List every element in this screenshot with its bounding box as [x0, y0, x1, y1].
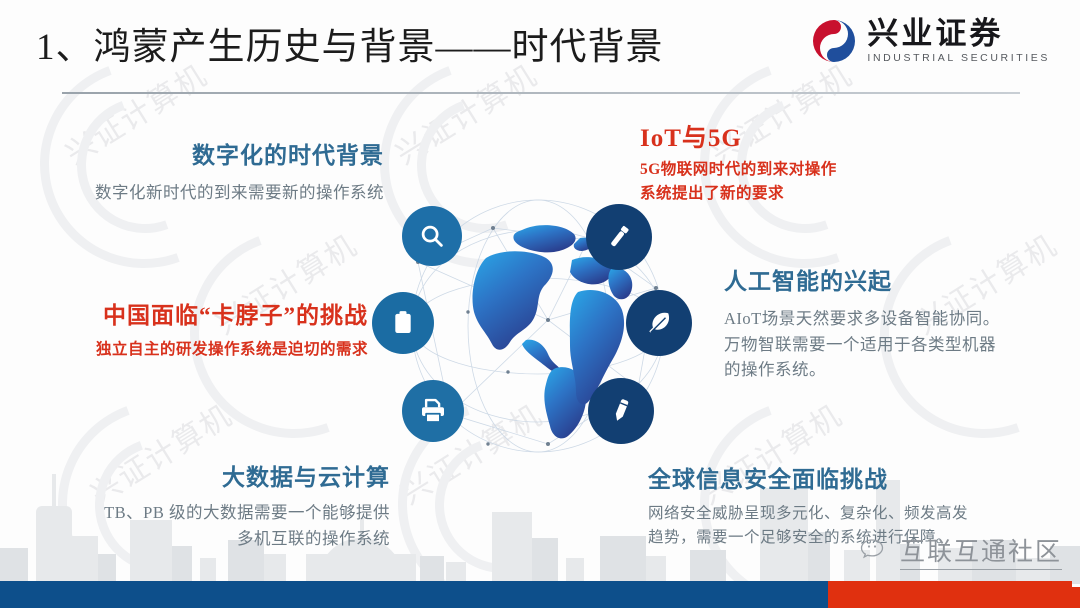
flashlight-icon[interactable] [586, 204, 652, 270]
block-line: 的操作系统。 [724, 357, 1074, 383]
block-ai-rise: 人工智能的兴起 AIoT场景天然要求多设备智能协同。 万物智联需要一个适用于各类… [724, 262, 1074, 383]
block-heading: IoT与5G [640, 118, 970, 154]
block-line: 万物智联需要一个适用于各类型机器 [724, 332, 1074, 358]
brand-logo: 兴业证券 INDUSTRIAL SECURITIES [811, 18, 1050, 64]
globe-graphic [398, 192, 678, 462]
block-heading: 全球信息安全面临挑战 [648, 460, 1068, 494]
block-heading: 数字化的时代背景 [0, 136, 384, 170]
block-line: 数字化新时代的到来需要新的操作系统 [0, 180, 384, 206]
wechat-watermark: 互联互通社区 [859, 532, 1062, 570]
swirl-logo-icon [811, 18, 857, 64]
block-digital-era: 数字化的时代背景 数字化新时代的到来需要新的操作系统 [0, 136, 384, 206]
pencil-icon[interactable] [588, 378, 654, 444]
logo-name-en: INDUSTRIAL SECURITIES [867, 53, 1050, 64]
block-heading: 大数据与云计算 [0, 458, 390, 492]
footer-bar-blue [0, 581, 836, 608]
wechat-watermark-text: 互联互通社区 [900, 532, 1062, 570]
feather-icon[interactable] [626, 290, 692, 356]
block-line: 多机互联的操作系统 [0, 526, 390, 552]
block-line: 系统提出了新的要求 [640, 182, 970, 206]
block-heading: 人工智能的兴起 [724, 262, 1074, 296]
block-heading: 中国面临“卡脖子”的挑战 [0, 296, 368, 330]
search-icon[interactable] [402, 206, 462, 266]
slide-canvas: 兴证计算机 兴证计算机 兴证计算机 兴证计算机 兴证计算机 兴证计算机 兴证计算… [0, 0, 1080, 608]
footer-bar-red [828, 587, 1080, 608]
block-iot-5g: IoT与5G 5G物联网时代的到来对操作 系统提出了新的要求 [640, 118, 970, 206]
page-title: 1、鸿蒙产生历史与背景——时代背景 [36, 16, 664, 70]
block-line: 网络安全威胁呈现多元化、复杂化、频发高发 [648, 502, 1068, 526]
wechat-icon [859, 537, 893, 565]
block-line: TB、PB 级的大数据需要一个能够提供 [0, 500, 390, 526]
block-bigdata-cloud: 大数据与云计算 TB、PB 级的大数据需要一个能够提供 多机互联的操作系统 [0, 458, 390, 551]
logo-name-cn: 兴业证券 [867, 18, 1050, 49]
block-line: AIoT场景天然要求多设备智能协同。 [724, 306, 1074, 332]
block-china-bottleneck: 中国面临“卡脖子”的挑战 独立自主的研发操作系统是迫切的需求 [0, 296, 368, 362]
block-line: 独立自主的研发操作系统是迫切的需求 [0, 338, 368, 362]
title-divider [62, 92, 1020, 94]
block-line: 5G物联网时代的到来对操作 [640, 158, 970, 182]
printer-icon[interactable] [402, 380, 464, 442]
clipboard-icon[interactable] [372, 292, 434, 354]
